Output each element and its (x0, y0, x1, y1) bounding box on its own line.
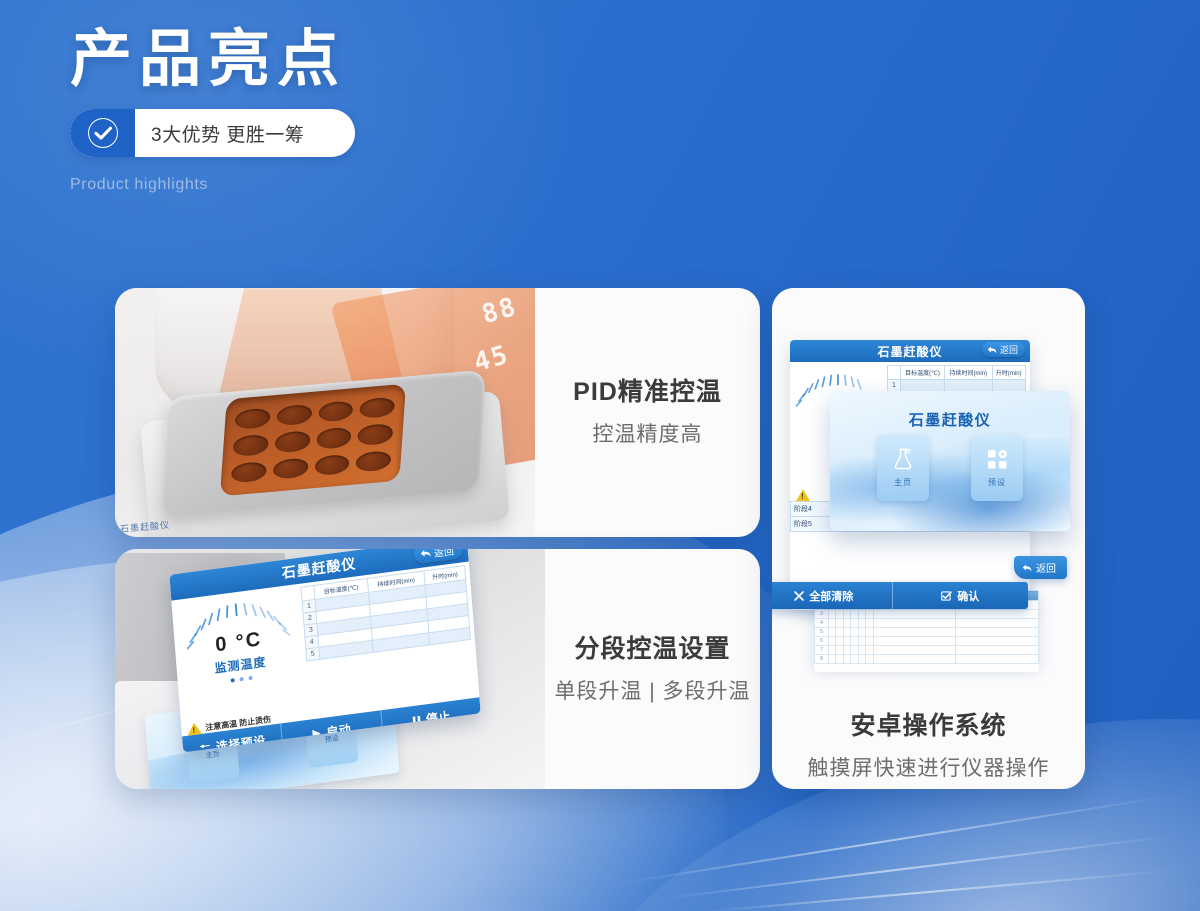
android-table-header-target-temp: 目标温度(℃) (901, 366, 945, 380)
table-row: 1 (888, 380, 1026, 392)
grid-cell[interactable] (956, 628, 1039, 637)
highlights-badge: 3大优势 更胜一筹 (70, 109, 355, 157)
grid-cell[interactable] (873, 619, 956, 628)
android-table-header-ramp: 升时(min) (992, 366, 1025, 380)
confirm-button[interactable]: 确认 (893, 582, 1029, 609)
cell-target-temp[interactable] (901, 380, 945, 392)
grid-cell[interactable] (843, 610, 850, 619)
pid-product-photo: 88 45 53 石墨赶酸仪 (115, 288, 535, 537)
pid-heading: PID精准控温 (535, 372, 760, 408)
page-title: 产品亮点 (70, 24, 355, 95)
grid-cell[interactable] (836, 628, 843, 637)
android-screens-stage: 石墨赶酸仪 返回 (772, 288, 1085, 688)
grid-cell[interactable] (956, 655, 1039, 664)
checkbox-checked-icon (941, 591, 952, 601)
android-floating-back-button[interactable]: 返回 (1014, 556, 1067, 579)
sample-well-plate (220, 384, 406, 497)
warning-triangle-icon (187, 722, 202, 736)
grid-cell[interactable] (866, 637, 873, 646)
grid-cell[interactable] (829, 646, 836, 655)
grid-cell[interactable] (836, 637, 843, 646)
android-back-label: 返回 (1000, 343, 1018, 356)
segmented-card-copy: 分段控温设置 单段升温 | 多段升温 (545, 629, 760, 705)
grid-cell[interactable] (873, 637, 956, 646)
home-tile-preset-label: 预设 (988, 477, 1006, 488)
table-row: 7 (815, 646, 1039, 655)
grid-cell[interactable] (843, 646, 850, 655)
page-header: 产品亮点 3大优势 更胜一筹 Product highlights (70, 24, 355, 194)
grid-cell[interactable] (866, 646, 873, 655)
pause-icon (412, 715, 422, 726)
page-subtitle: Product highlights (70, 176, 355, 194)
stage-bottom-fade (772, 666, 1085, 688)
grid-cell[interactable] (843, 628, 850, 637)
grid-cell[interactable] (829, 637, 836, 646)
grid-cell[interactable] (829, 619, 836, 628)
grid-cell[interactable] (851, 628, 858, 637)
android-subheading: 触摸屏快速进行仪器操作 (772, 752, 1085, 782)
row-number: 7 (815, 646, 829, 655)
pid-subheading: 控温精度高 (535, 418, 760, 448)
android-table-index-header (888, 366, 901, 380)
badge-label: 3大优势 更胜一筹 (135, 109, 355, 157)
grid-cell[interactable] (829, 610, 836, 619)
grid-cell[interactable] (843, 655, 850, 664)
row-number: 3 (815, 610, 829, 619)
grid-cell[interactable] (858, 637, 865, 646)
android-screen-title: 石墨赶酸仪 (877, 343, 942, 360)
temperature-gauge: 0 °C 监测温度 (171, 584, 308, 723)
grid-cell[interactable] (956, 610, 1039, 619)
grid-cell[interactable] (836, 646, 843, 655)
grid-cell[interactable] (843, 637, 850, 646)
mini-tile-preset-label: 预设 (324, 733, 339, 745)
back-arrow-icon (1022, 564, 1032, 572)
grid-cell[interactable] (873, 628, 956, 637)
android-back-button[interactable]: 返回 (982, 342, 1025, 357)
android-home-screen[interactable]: 石墨赶酸仪 主页 (830, 391, 1070, 531)
wave-line-3 (701, 869, 1179, 911)
product-highlights-page: 产品亮点 3大优势 更胜一筹 Product highlights 88 45 … (0, 0, 1200, 911)
grid-cell[interactable] (851, 646, 858, 655)
home-tile-preset[interactable]: 预设 (971, 435, 1023, 501)
grid-cell[interactable] (866, 628, 873, 637)
grid-cell[interactable] (858, 628, 865, 637)
grid-cell[interactable] (851, 619, 858, 628)
grid-cell[interactable] (873, 646, 956, 655)
table-row: 8 (815, 655, 1039, 664)
wave-line-1 (623, 794, 1176, 884)
home-tile-main-label: 主页 (894, 477, 912, 488)
row-number: 5 (815, 628, 829, 637)
home-screen-title: 石墨赶酸仪 (830, 409, 1070, 430)
grid-cell[interactable] (956, 646, 1039, 655)
grid-cell[interactable] (858, 619, 865, 628)
grid-cell[interactable] (858, 610, 865, 619)
stage-table[interactable]: 目标温度(℃) 持续时间(min) 升时(min) 1 2 3 4 5 (298, 562, 478, 707)
grid-cell[interactable] (866, 619, 873, 628)
row-number: 6 (815, 637, 829, 646)
back-button-label: 返回 (433, 549, 454, 560)
grid-cell[interactable] (829, 628, 836, 637)
android-card-copy: 安卓操作系统 触摸屏快速进行仪器操作 (772, 706, 1085, 782)
table-row: 3 (815, 610, 1039, 619)
feature-card-segmented[interactable]: 主页 预设 石墨赶酸仪 返回 (115, 549, 760, 789)
row-number: 8 (815, 655, 829, 664)
pid-card-copy: PID精准控温 控温精度高 (535, 372, 760, 448)
grid-cell[interactable] (836, 619, 843, 628)
table-row: 6 (815, 637, 1039, 646)
grid-cell[interactable] (829, 655, 836, 664)
home-tile-main[interactable]: 主页 (877, 435, 929, 501)
android-screen-topbar: 石墨赶酸仪 返回 (790, 340, 1030, 362)
device-touchscreen[interactable]: 石墨赶酸仪 返回 (169, 549, 480, 752)
grid-cell[interactable] (873, 655, 956, 664)
confirm-label: 确认 (957, 588, 979, 604)
flask-icon (893, 448, 913, 470)
clear-all-button[interactable]: 全部清除 (772, 582, 893, 609)
close-x-icon (794, 591, 804, 601)
well-grid (231, 397, 395, 484)
home-tile-row: 主页 预设 (830, 435, 1070, 501)
grid-cell[interactable] (873, 610, 956, 619)
android-heading: 安卓操作系统 (772, 706, 1085, 742)
stop-label: 停止 (425, 707, 451, 727)
back-arrow-icon (420, 549, 432, 559)
mini-tile-home-label: 主页 (205, 749, 220, 761)
grid-cell[interactable] (843, 619, 850, 628)
grid-cell[interactable] (836, 655, 843, 664)
row-number: 4 (815, 619, 829, 628)
segmented-heading: 分段控温设置 (545, 629, 760, 665)
row-index: 5 (306, 647, 320, 661)
grid-cell[interactable] (956, 619, 1039, 628)
grid-cell[interactable] (858, 646, 865, 655)
check-circle-icon (88, 118, 118, 148)
grid-apps-icon (987, 449, 1008, 470)
table-row: 4 (815, 619, 1039, 628)
back-button[interactable]: 返回 (413, 549, 463, 565)
grid-cell[interactable] (858, 655, 865, 664)
table-row: 5 (815, 628, 1039, 637)
android-action-bar: 全部清除 确认 (772, 582, 1028, 609)
clear-all-label: 全部清除 (809, 588, 853, 604)
grid-cell[interactable] (851, 655, 858, 664)
segmented-subheading: 单段升温 | 多段升温 (545, 675, 760, 705)
badge-icon-area (70, 109, 135, 157)
grid-cell[interactable] (851, 610, 858, 619)
cell-ramp[interactable] (992, 380, 1025, 392)
feature-card-pid[interactable]: 88 45 53 石墨赶酸仪 PID精准控温 控温精度高 (115, 288, 760, 537)
segmented-product-photo: 主页 预设 石墨赶酸仪 返回 (115, 549, 545, 789)
wave-line-2 (662, 834, 1178, 899)
grid-cell[interactable] (956, 637, 1039, 646)
row-index: 1 (888, 380, 901, 392)
cell-duration[interactable] (945, 380, 992, 392)
android-table-header-duration: 持续时间(min) (945, 366, 992, 380)
back-arrow-icon (987, 346, 997, 354)
grid-cell[interactable] (851, 637, 858, 646)
android-floating-back-label: 返回 (1036, 560, 1056, 575)
grid-cell[interactable] (836, 610, 843, 619)
feature-card-android[interactable]: 石墨赶酸仪 返回 (772, 288, 1085, 789)
grid-cell[interactable] (866, 655, 873, 664)
warning-triangle-icon (796, 489, 810, 501)
grid-cell[interactable] (866, 610, 873, 619)
